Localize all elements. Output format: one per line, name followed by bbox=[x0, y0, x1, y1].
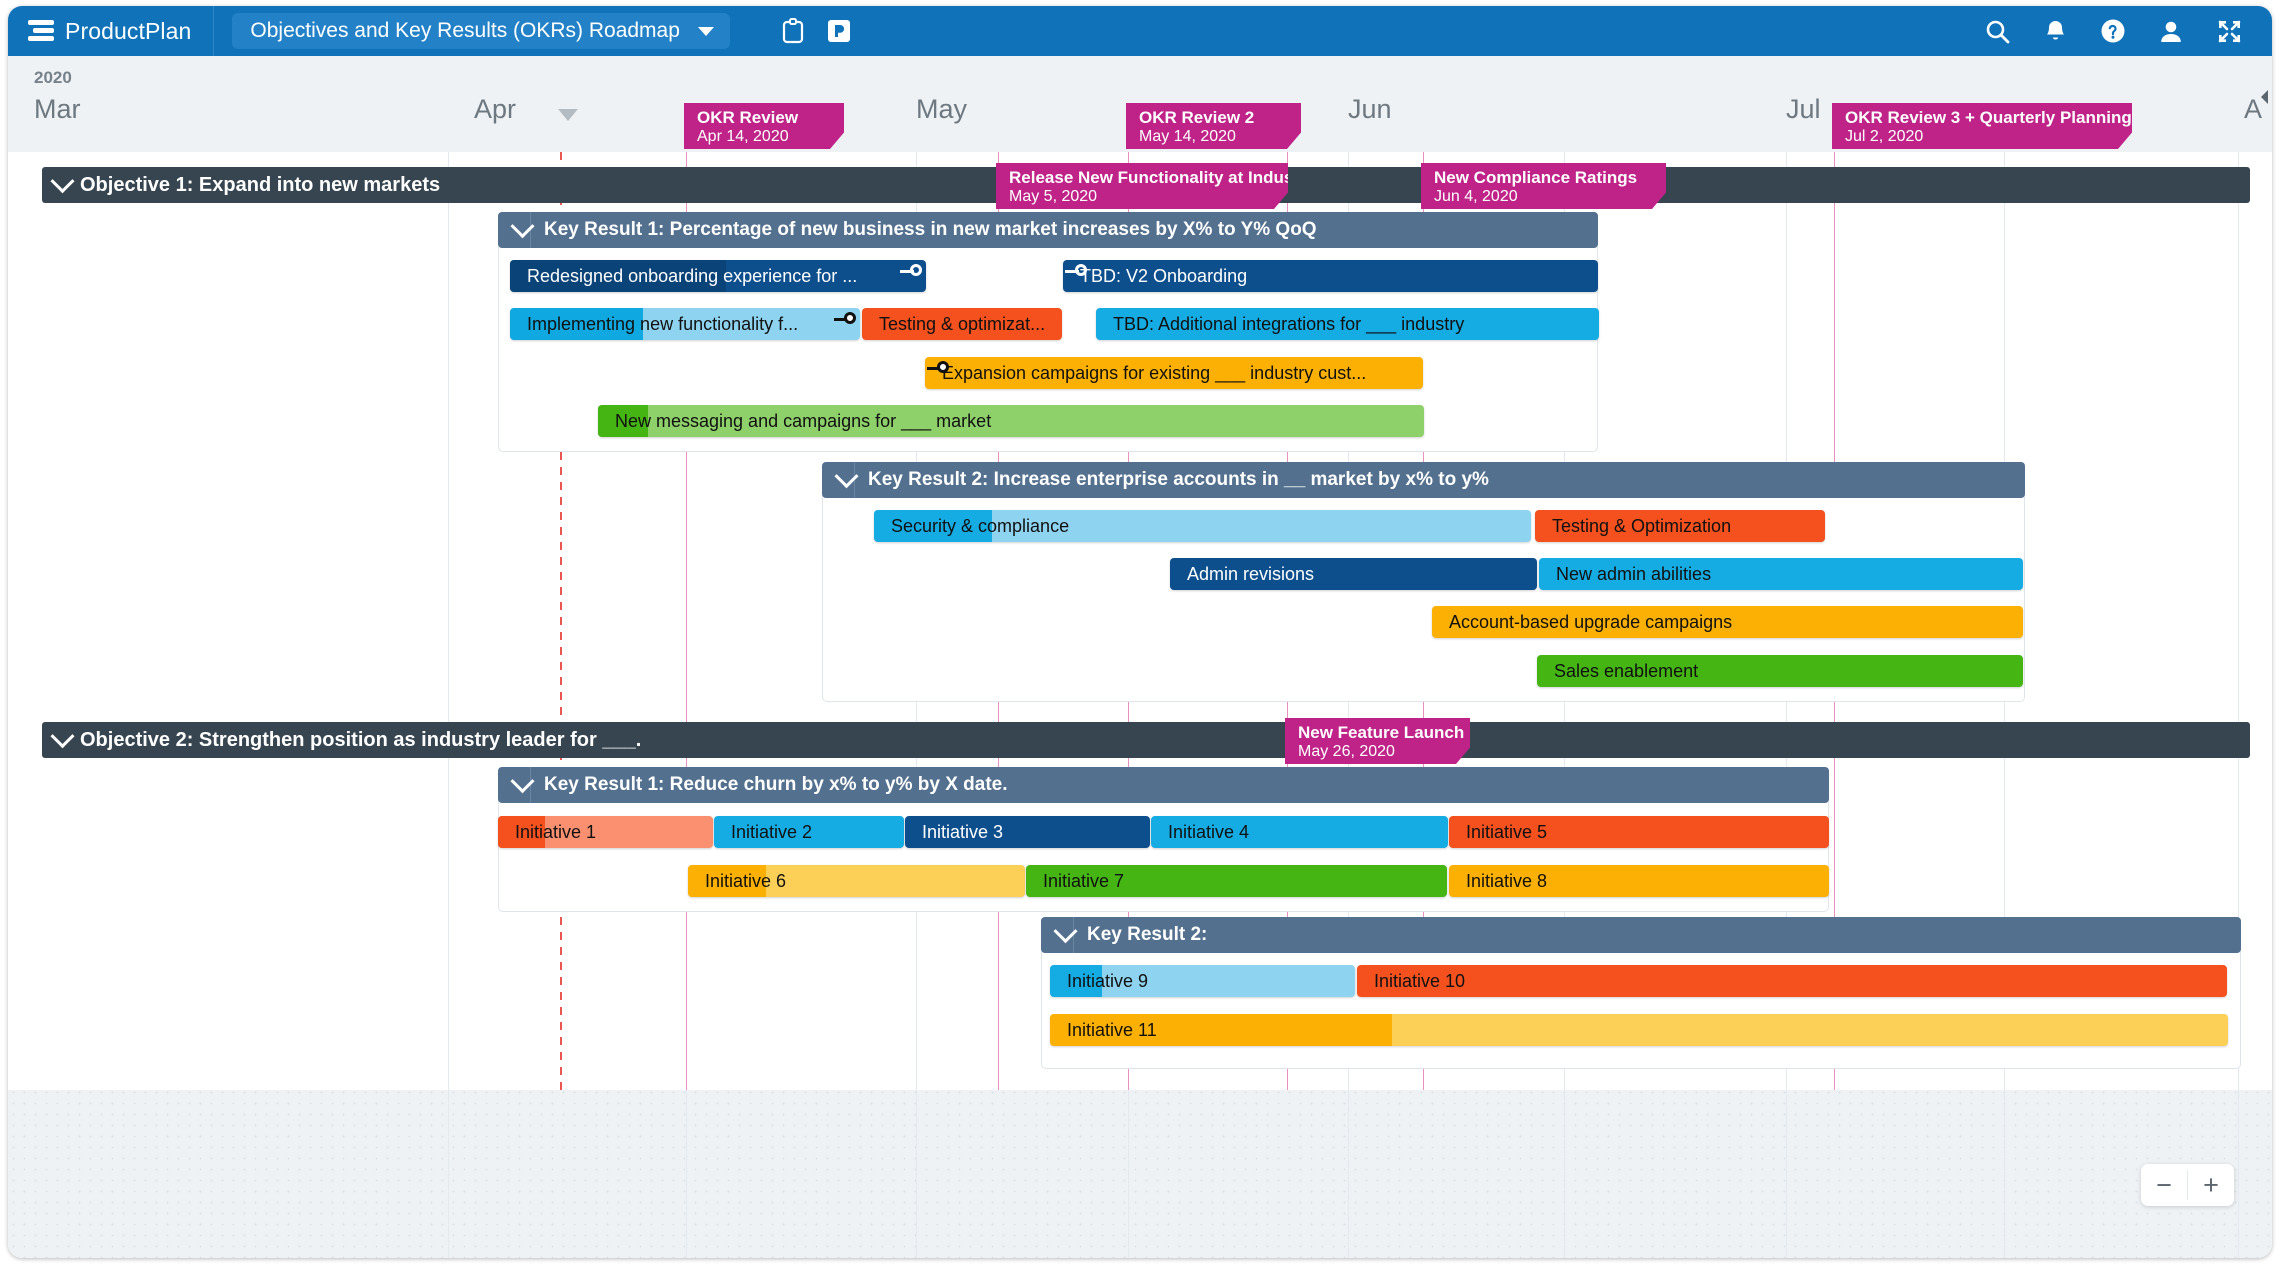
zoom-out-button[interactable]: − bbox=[2141, 1164, 2187, 1206]
user-icon[interactable] bbox=[2142, 6, 2200, 56]
milestone-flag[interactable]: OKR Review 3 + Quarterly PlanningJul 2, … bbox=[1832, 103, 2132, 149]
initiative-label: Initiative 6 bbox=[688, 865, 1025, 897]
objective-label: Objective 2: Strengthen position as indu… bbox=[80, 729, 641, 752]
clipboard-icon[interactable] bbox=[770, 6, 816, 56]
month-label-apr: Apr bbox=[474, 94, 516, 125]
initiative-bar[interactable]: Initiative 11 bbox=[1050, 1014, 2228, 1046]
initiative-label: Security & compliance bbox=[874, 510, 1531, 542]
zoom-controls[interactable]: − + bbox=[2141, 1164, 2234, 1206]
productplan-window: ProductPlan Objectives and Key Results (… bbox=[8, 6, 2272, 1258]
milestone-date: May 5, 2020 bbox=[1009, 187, 1272, 206]
initiative-label: Testing & Optimization bbox=[1535, 510, 1825, 542]
chevron-left-icon[interactable] bbox=[2258, 82, 2272, 112]
productplan-logo-icon bbox=[28, 20, 54, 42]
initiative-bar[interactable]: Redesigned onboarding experience for ... bbox=[510, 260, 926, 292]
initiative-bar[interactable]: Initiative 10 bbox=[1357, 965, 2227, 997]
gridline bbox=[2004, 152, 2005, 1258]
initiative-bar[interactable]: Admin revisions bbox=[1170, 558, 1537, 590]
milestone-title: OKR Review 3 + Quarterly Planning bbox=[1845, 108, 2116, 127]
month-label-may: May bbox=[916, 94, 967, 125]
brand-home-button[interactable]: ProductPlan bbox=[8, 6, 213, 56]
initiative-label: TBD: Additional integrations for ___ ind… bbox=[1096, 308, 1599, 340]
initiative-bar[interactable]: Initiative 5 bbox=[1449, 816, 1829, 848]
initiative-label: Initiative 7 bbox=[1026, 865, 1447, 897]
milestone-title: New Feature Launch bbox=[1298, 723, 1454, 742]
milestone-title: OKR Review 2 bbox=[1139, 108, 1285, 127]
initiative-label: Initiative 9 bbox=[1050, 965, 1355, 997]
objective-label: Objective 1: Expand into new markets bbox=[80, 174, 440, 197]
milestone-date: Jun 4, 2020 bbox=[1434, 187, 1650, 206]
milestone-date: Apr 14, 2020 bbox=[697, 127, 828, 146]
initiative-bar[interactable]: Expansion campaigns for existing ___ ind… bbox=[925, 357, 1423, 389]
initiative-bar[interactable]: Initiative 3 bbox=[905, 816, 1150, 848]
key-result-bar[interactable]: Key Result 2: Increase enterprise accoun… bbox=[822, 462, 2025, 498]
initiative-bar[interactable]: Initiative 7 bbox=[1026, 865, 1447, 897]
milestone-flag[interactable]: OKR Review 2May 14, 2020 bbox=[1126, 103, 1301, 149]
chevron-down-icon bbox=[698, 27, 714, 36]
chevron-down-icon bbox=[50, 724, 74, 748]
initiative-label: Initiative 1 bbox=[498, 816, 713, 848]
initiative-bar[interactable]: TBD: V2 Onboarding bbox=[1063, 260, 1598, 292]
initiative-bar[interactable]: Security & compliance bbox=[874, 510, 1531, 542]
zoom-in-button[interactable]: + bbox=[2188, 1164, 2234, 1206]
initiative-label: Initiative 11 bbox=[1050, 1014, 2228, 1046]
gridline bbox=[2238, 152, 2239, 1258]
initiative-bar[interactable]: Initiative 9 bbox=[1050, 965, 1355, 997]
key-result-bar[interactable]: Key Result 2: bbox=[1041, 917, 2241, 953]
document-title-dropdown[interactable]: Objectives and Key Results (OKRs) Roadma… bbox=[232, 13, 730, 49]
initiative-bar[interactable]: TBD: Additional integrations for ___ ind… bbox=[1096, 308, 1599, 340]
initiative-label: Testing & optimizat... bbox=[862, 308, 1062, 340]
key-result-label: Key Result 1: Percentage of new business… bbox=[544, 219, 1317, 241]
milestone-flag[interactable]: Release New Functionality at Indus...May… bbox=[996, 163, 1288, 209]
year-label: 2020 bbox=[34, 68, 72, 88]
initiative-label: Initiative 5 bbox=[1449, 816, 1829, 848]
p-badge-icon[interactable] bbox=[816, 6, 862, 56]
search-icon[interactable] bbox=[1968, 6, 2026, 56]
help-icon[interactable] bbox=[2084, 6, 2142, 56]
initiative-bar[interactable]: Sales enablement bbox=[1537, 655, 2023, 687]
milestone-date: Jul 2, 2020 bbox=[1845, 127, 2116, 146]
gridline bbox=[1786, 152, 1787, 1258]
month-label-jul: Jul bbox=[1786, 94, 1821, 125]
initiative-bar[interactable]: Initiative 8 bbox=[1449, 865, 1829, 897]
initiative-bar[interactable]: Implementing new functionality f... bbox=[510, 308, 860, 340]
milestone-title: OKR Review bbox=[697, 108, 828, 127]
month-label-mar: Mar bbox=[34, 94, 81, 125]
initiative-label: Implementing new functionality f... bbox=[510, 308, 860, 340]
milestone-date: May 26, 2020 bbox=[1298, 742, 1454, 761]
initiative-bar[interactable]: Initiative 6 bbox=[688, 865, 1025, 897]
milestone-flag[interactable]: New Compliance RatingsJun 4, 2020 bbox=[1421, 163, 1666, 209]
initiative-bar[interactable]: New messaging and campaigns for ___ mark… bbox=[598, 405, 1424, 437]
milestone-title: New Compliance Ratings bbox=[1434, 168, 1650, 187]
initiative-bar[interactable]: Testing & Optimization bbox=[1535, 510, 1825, 542]
initiative-label: Initiative 2 bbox=[714, 816, 904, 848]
key-result-label: Key Result 2: bbox=[1087, 924, 1207, 946]
initiative-bar[interactable]: Account-based upgrade campaigns bbox=[1432, 606, 2023, 638]
initiative-label: TBD: V2 Onboarding bbox=[1063, 260, 1598, 292]
gridline bbox=[448, 152, 449, 1258]
initiative-label: New admin abilities bbox=[1539, 558, 2023, 590]
initiative-bar[interactable]: Initiative 2 bbox=[714, 816, 904, 848]
timeline-header: 2020 MarAprMayJunJulA OKR ReviewApr 14, … bbox=[8, 56, 2272, 153]
initiative-label: Sales enablement bbox=[1537, 655, 2023, 687]
initiative-label: Initiative 3 bbox=[905, 816, 1150, 848]
key-result-label: Key Result 1: Reduce churn by x% to y% b… bbox=[544, 774, 1008, 796]
initiative-bar[interactable]: Initiative 4 bbox=[1151, 816, 1448, 848]
brand-name: ProductPlan bbox=[65, 18, 191, 45]
key-result-bar[interactable]: Key Result 1: Reduce churn by x% to y% b… bbox=[498, 767, 1829, 803]
chevron-down-icon bbox=[50, 169, 74, 193]
initiative-label: Redesigned onboarding experience for ... bbox=[510, 260, 926, 292]
top-toolbar: ProductPlan Objectives and Key Results (… bbox=[8, 6, 2272, 56]
key-result-label: Key Result 2: Increase enterprise accoun… bbox=[868, 469, 1489, 491]
milestone-date: May 14, 2020 bbox=[1139, 127, 1285, 146]
initiative-label: Initiative 8 bbox=[1449, 865, 1829, 897]
month-label-jun: Jun bbox=[1348, 94, 1392, 125]
toolbar-divider bbox=[213, 6, 214, 56]
milestone-flag[interactable]: OKR ReviewApr 14, 2020 bbox=[684, 103, 844, 149]
initiative-bar[interactable]: Initiative 1 bbox=[498, 816, 713, 848]
initiative-bar[interactable]: Testing & optimizat... bbox=[862, 308, 1062, 340]
initiative-label: Account-based upgrade campaigns bbox=[1432, 606, 2023, 638]
milestone-flag[interactable]: New Feature LaunchMay 26, 2020 bbox=[1285, 718, 1470, 764]
initiative-label: Initiative 4 bbox=[1151, 816, 1448, 848]
initiative-bar[interactable]: New admin abilities bbox=[1539, 558, 2023, 590]
bell-icon[interactable] bbox=[2026, 6, 2084, 56]
today-caret-icon bbox=[558, 109, 578, 121]
roadmap-canvas[interactable]: Objective 1: Expand into new marketsKey … bbox=[8, 152, 2272, 1258]
initiative-label: Expansion campaigns for existing ___ ind… bbox=[925, 357, 1423, 389]
document-title-label: Objectives and Key Results (OKRs) Roadma… bbox=[250, 19, 680, 43]
key-result-bar[interactable]: Key Result 1: Percentage of new business… bbox=[498, 212, 1598, 248]
initiative-label: New messaging and campaigns for ___ mark… bbox=[598, 405, 1424, 437]
initiative-label: Admin revisions bbox=[1170, 558, 1537, 590]
objective-bar[interactable]: Objective 2: Strengthen position as indu… bbox=[42, 722, 2250, 758]
milestone-title: Release New Functionality at Indus... bbox=[1009, 168, 1272, 187]
initiative-label: Initiative 10 bbox=[1357, 965, 2227, 997]
expand-icon[interactable] bbox=[2200, 6, 2258, 56]
